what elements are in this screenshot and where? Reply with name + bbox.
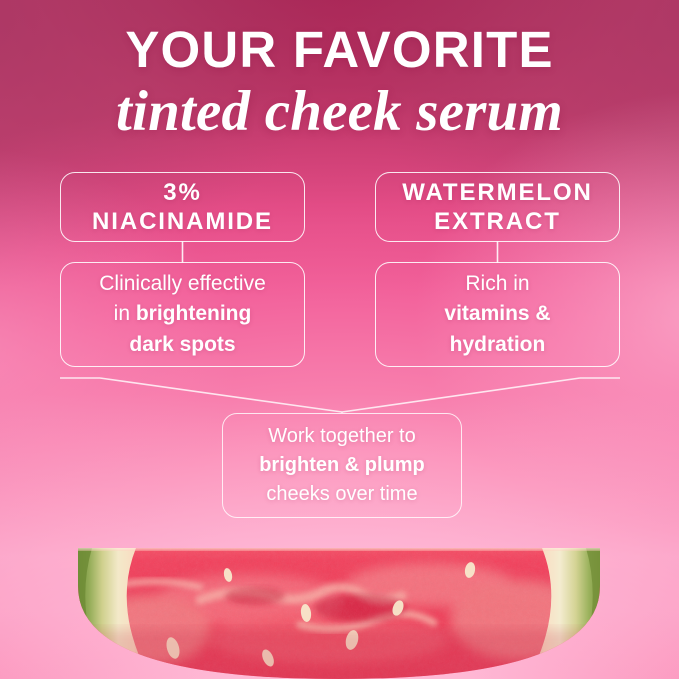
benefit-box-brightening: Clinically effective in brightening dark…: [60, 262, 305, 367]
watermelon-name: WATERMELON: [402, 179, 593, 206]
niacinamide-percent: 3%: [163, 179, 202, 206]
headline-block: YOUR FAVORITE tinted cheek serum: [0, 24, 679, 144]
niacinamide-name: NIACINAMIDE: [92, 208, 273, 235]
vitamins-line3-bold: hydration: [450, 333, 546, 356]
benefit-box-vitamins: Rich in vitamins & hydration: [375, 262, 620, 367]
ingredient-box-watermelon: WATERMELON EXTRACT: [375, 172, 620, 242]
result-line1: Work together to: [268, 425, 415, 447]
brightening-line2-bold: brightening: [136, 302, 251, 325]
result-line3: cheeks over time: [266, 483, 417, 505]
result-line2-bold: brighten & plump: [259, 454, 425, 476]
watermelon-extract: EXTRACT: [434, 208, 561, 235]
result-box-work-together: Work together to brighten & plump cheeks…: [222, 413, 462, 518]
brightening-line2-prefix: in: [114, 302, 136, 325]
ingredient-box-niacinamide: 3% NIACINAMIDE: [60, 172, 305, 242]
headline-primary: YOUR FAVORITE: [0, 24, 679, 76]
vitamins-line2-bold: vitamins &: [444, 302, 550, 325]
brightening-line1: Clinically effective: [99, 272, 266, 295]
brightening-line3-bold: dark spots: [129, 333, 235, 356]
headline-script: tinted cheek serum: [0, 80, 679, 144]
product-infographic-poster: YOUR FAVORITE tinted cheek serum 3% NIAC…: [0, 0, 679, 679]
vitamins-line1: Rich in: [465, 272, 529, 295]
